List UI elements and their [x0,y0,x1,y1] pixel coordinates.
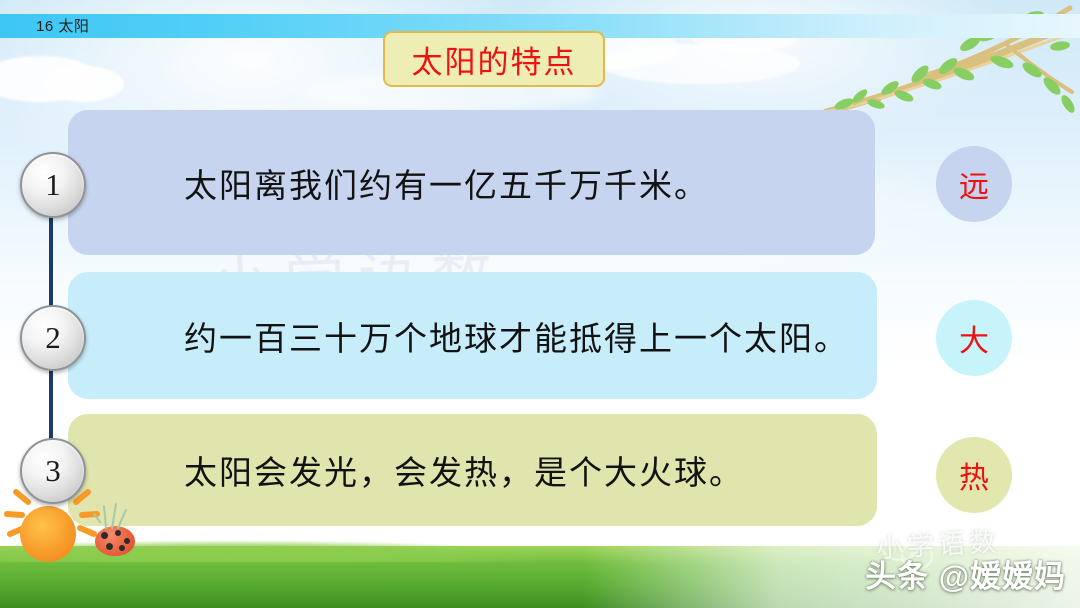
page-title: 太阳的特点 [412,37,577,82]
fact-bullet-2[interactable]: 2 [20,305,86,371]
keyword-circle-3[interactable]: 热 [936,437,1012,513]
ladybug-antenna-icon [92,500,138,530]
fact-sentence-2: 约一百三十万个地球才能抵得上一个太阳。 [184,312,849,360]
fact-bullet-3[interactable]: 3 [20,438,86,504]
fact-bullet-number-3: 3 [45,453,61,489]
keyword-circle-2[interactable]: 大 [936,300,1012,376]
ladybug-icon [95,526,135,556]
keyword-label-1: 远 [959,162,989,206]
keyword-label-2: 大 [959,316,989,360]
author-watermark: 头条 @嫒嫒妈 [865,551,1066,596]
fact-bullet-number-1: 1 [45,167,61,203]
lesson-label: 16 太阳 [36,15,89,38]
fact-bullet-number-2: 2 [45,320,61,356]
cloud-decor [44,66,124,102]
fact-panel-1: 太阳离我们约有一亿五千万千米。 [68,110,875,255]
sun-icon [20,506,76,562]
fact-panel-2: 约一百三十万个地球才能抵得上一个太阳。 [68,272,877,399]
fact-sentence-3: 太阳会发光，会发热，是个大火球。 [184,446,744,494]
keyword-circle-1[interactable]: 远 [936,146,1012,222]
fact-bullet-1[interactable]: 1 [20,152,86,218]
slide-canvas: 16 太阳 太阳的特点 小学语数 太阳离我们约有一亿五千万千米。 1 远 约一百… [0,0,1080,608]
fact-panel-3: 太阳会发光，会发热，是个大火球。 [68,414,877,526]
slide-title-plate: 太阳的特点 [383,31,605,87]
keyword-label-3: 热 [959,453,989,497]
fact-sentence-1: 太阳离我们约有一亿五千万千米。 [184,159,709,207]
